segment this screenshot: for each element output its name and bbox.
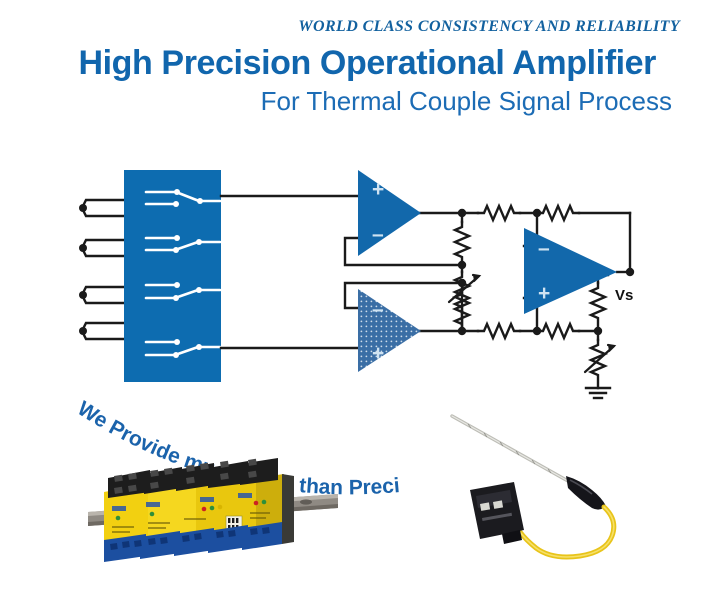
opamp-u3-plus: + bbox=[538, 282, 550, 305]
resistor-bottom-1 bbox=[478, 324, 520, 338]
promo-banner: WORLD CLASS CONSISTENCY AND RELIABILITY … bbox=[0, 0, 722, 600]
opamp-u3: – + bbox=[524, 228, 617, 314]
input-connector-2 bbox=[79, 240, 124, 256]
resistor-top-1 bbox=[478, 206, 520, 220]
resistor-gain-upper bbox=[455, 222, 469, 265]
opamp-u2: – + bbox=[358, 289, 421, 372]
opamp-u1-minus: – bbox=[372, 223, 384, 246]
resistor-top-2 bbox=[537, 206, 579, 220]
opamp-u1: + – bbox=[358, 170, 421, 256]
input-connector-4 bbox=[79, 323, 124, 339]
resistor-bottom-2 bbox=[537, 324, 579, 338]
product-photo-din-modules bbox=[88, 452, 338, 564]
probe-connector bbox=[470, 482, 524, 544]
input-connector-3 bbox=[79, 287, 124, 303]
resistor-reference bbox=[591, 283, 605, 331]
probe-shaft bbox=[452, 416, 568, 481]
label-vs: Vs bbox=[615, 287, 633, 304]
opamp-u2-minus: – bbox=[372, 298, 384, 321]
opamp-u2-plus: + bbox=[372, 342, 384, 365]
input-connector-1 bbox=[79, 200, 124, 216]
probe-handle bbox=[566, 476, 606, 510]
ground-symbol bbox=[586, 388, 610, 398]
module-stack bbox=[104, 458, 294, 562]
opamp-u3-minus: – bbox=[538, 237, 550, 260]
opamp-u1-plus: + bbox=[372, 178, 384, 201]
product-photo-thermocouple bbox=[440, 408, 650, 568]
probe-cable bbox=[520, 507, 614, 557]
